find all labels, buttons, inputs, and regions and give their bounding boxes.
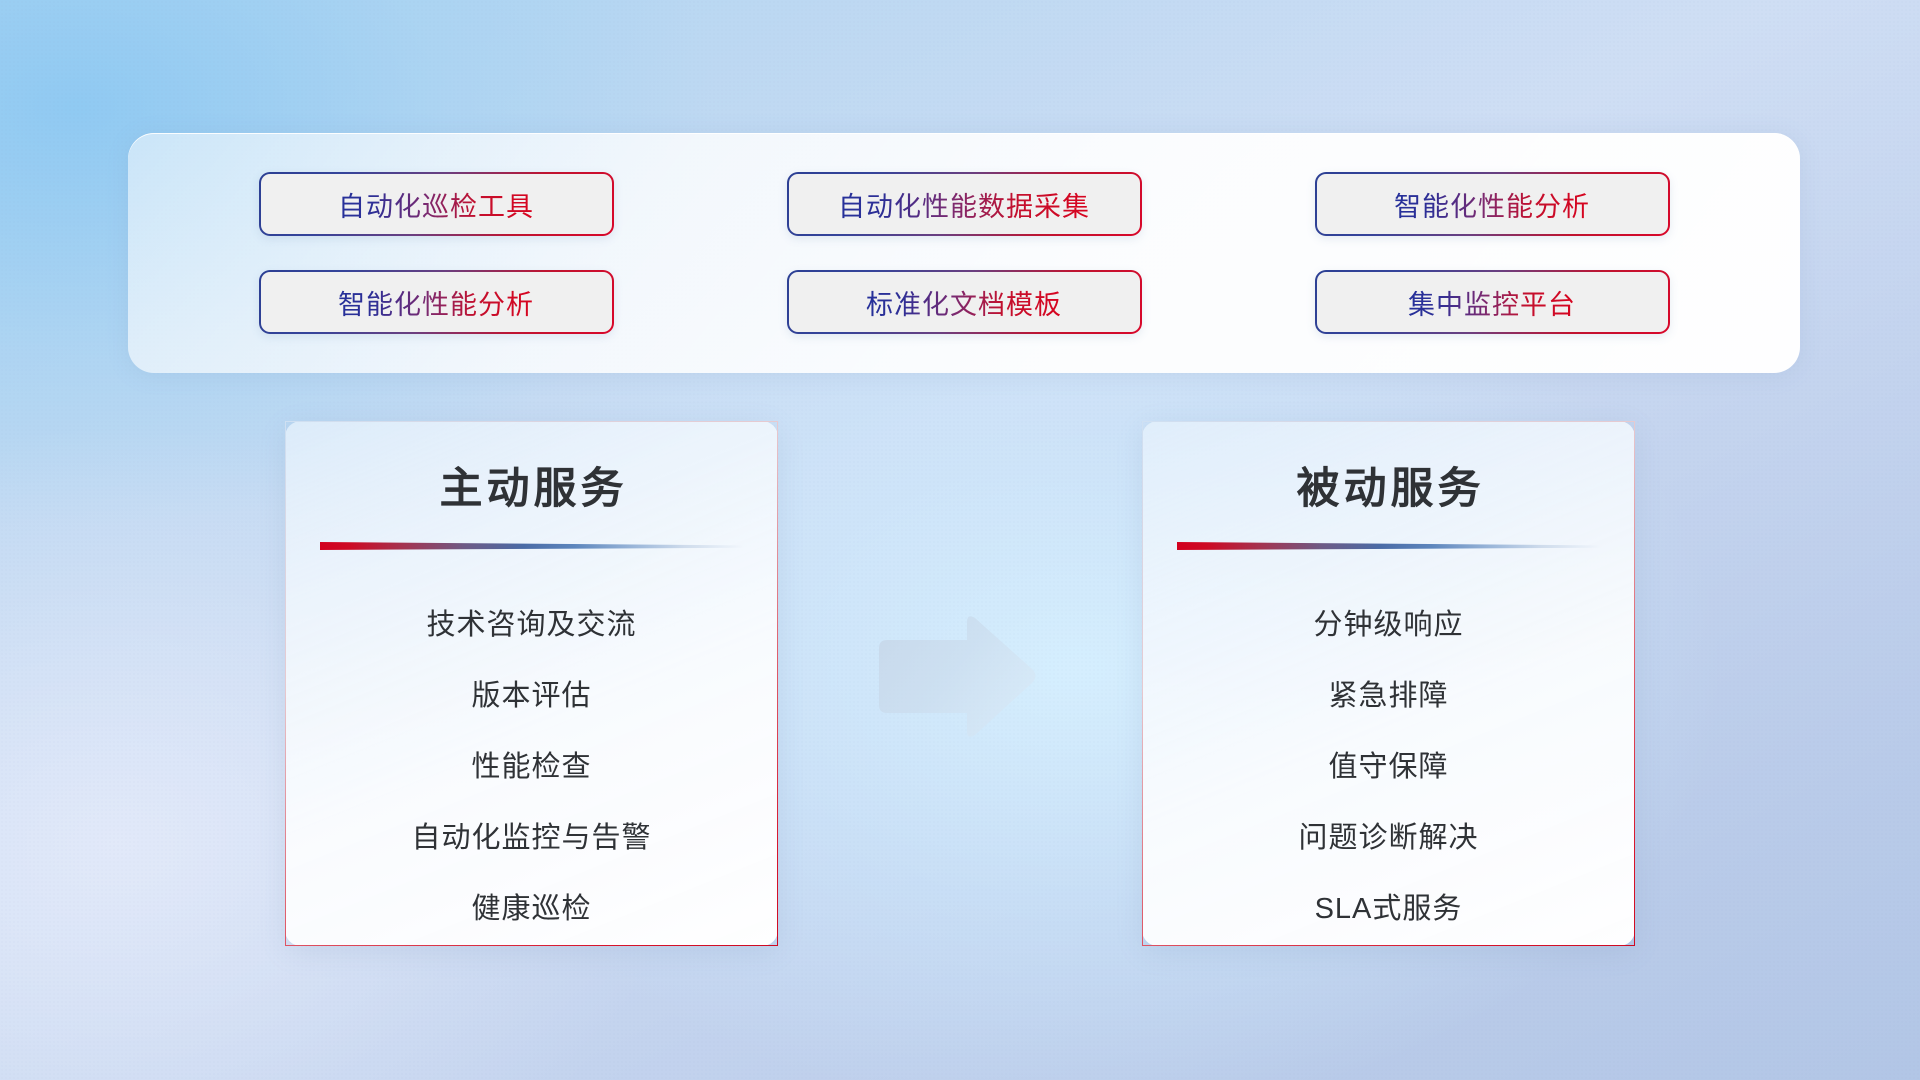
list-item: 分钟级响应 — [1313, 590, 1463, 661]
capability-pill-2[interactable]: 自动化性能数据采集 — [787, 172, 1142, 236]
capability-label: 自动化巡检工具 — [338, 185, 534, 224]
card-title: 被动服务 — [1293, 454, 1485, 516]
capability-pill-surface: 集中监控平台 — [1317, 272, 1668, 332]
slide-canvas: 自动化巡检工具 自动化性能数据采集 智能化性能分析 智能化性能分析 标准化文档模… — [0, 0, 1920, 1080]
capability-pill-surface: 标准化文档模板 — [789, 272, 1140, 332]
card-title: 主动服务 — [436, 454, 628, 516]
capability-pill-surface: 自动化性能数据采集 — [789, 174, 1140, 234]
list-item: SLA式服务 — [1315, 874, 1463, 945]
list-item: 性能检查 — [471, 732, 591, 803]
service-item-list: 技术咨询及交流 版本评估 性能检查 自动化监控与告警 健康巡检 — [286, 590, 777, 945]
capability-label: 标准化文档模板 — [866, 283, 1062, 322]
service-card-proactive: 主动服务 技术咨询及交流 版本评估 性能检查 自动化监控与告警 健康巡检 — [285, 421, 778, 946]
capability-label: 自动化性能数据采集 — [838, 185, 1090, 224]
arrow-right-icon — [873, 612, 1038, 742]
capability-label: 智能化性能分析 — [338, 283, 534, 322]
capability-pill-surface: 自动化巡检工具 — [261, 174, 612, 234]
capability-pill-surface: 智能化性能分析 — [1317, 174, 1668, 234]
capabilities-panel: 自动化巡检工具 自动化性能数据采集 智能化性能分析 智能化性能分析 标准化文档模… — [128, 133, 1800, 373]
title-divider — [1177, 542, 1601, 550]
service-item-list: 分钟级响应 紧急排障 值守保障 问题诊断解决 SLA式服务 — [1143, 590, 1634, 945]
list-item: 值守保障 — [1328, 732, 1448, 803]
capability-pill-6[interactable]: 集中监控平台 — [1315, 270, 1670, 334]
list-item: 问题诊断解决 — [1298, 803, 1478, 874]
capability-pill-surface: 智能化性能分析 — [261, 272, 612, 332]
capability-pill-4[interactable]: 智能化性能分析 — [259, 270, 614, 334]
title-divider — [320, 542, 744, 550]
list-item: 健康巡检 — [471, 874, 591, 945]
capability-pill-5[interactable]: 标准化文档模板 — [787, 270, 1142, 334]
capability-pill-3[interactable]: 智能化性能分析 — [1315, 172, 1670, 236]
list-item: 自动化监控与告警 — [411, 803, 651, 874]
list-item: 技术咨询及交流 — [426, 590, 636, 661]
list-item: 紧急排障 — [1328, 661, 1448, 732]
capability-pill-1[interactable]: 自动化巡检工具 — [259, 172, 614, 236]
capability-label: 集中监控平台 — [1408, 283, 1576, 322]
capability-label: 智能化性能分析 — [1394, 185, 1590, 224]
list-item: 版本评估 — [471, 661, 591, 732]
service-card-reactive: 被动服务 分钟级响应 紧急排障 值守保障 问题诊断解决 SLA式服务 — [1142, 421, 1635, 946]
